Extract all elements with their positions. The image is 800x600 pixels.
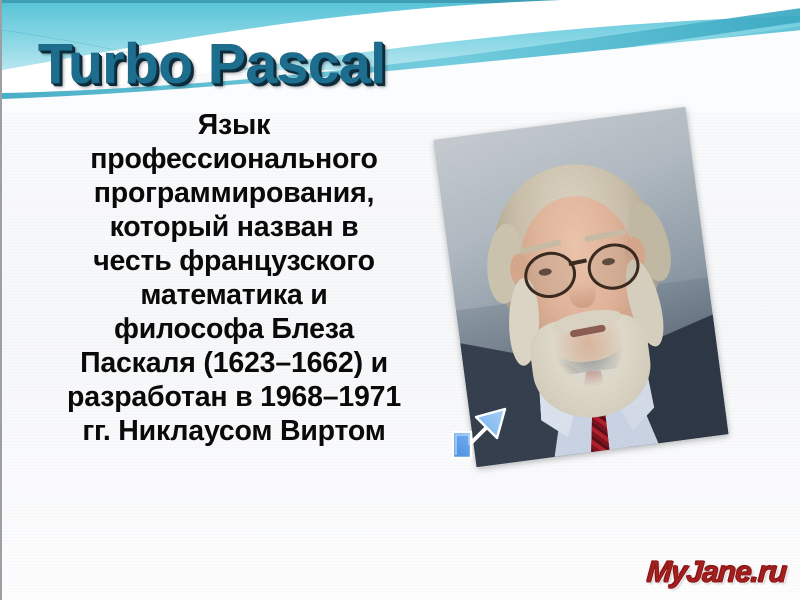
presentation-slide: Turbo Pascal Язык профессионального прог… (0, 0, 800, 600)
body-line: который назван в (24, 210, 444, 244)
blue-arrow-cursor-icon (449, 404, 511, 462)
body-line: профессионального (24, 142, 444, 176)
watermark-logo: MyJane.ru (645, 556, 787, 590)
body-line: Паскаля (1623–1662) и (24, 346, 444, 380)
body-line: программирования, (24, 176, 444, 210)
body-line: математика и (24, 278, 444, 312)
body-line: честь французского (24, 244, 444, 278)
slide-title: Turbo Pascal (38, 36, 386, 93)
body-line: гг. Никлаусом Виртом (24, 414, 444, 448)
slide-body-text: Язык профессионального программирования,… (24, 108, 444, 448)
body-line: разработан в 1968–1971 (24, 380, 444, 414)
body-line: Язык (24, 108, 444, 142)
body-line: философа Блеза (24, 312, 444, 346)
